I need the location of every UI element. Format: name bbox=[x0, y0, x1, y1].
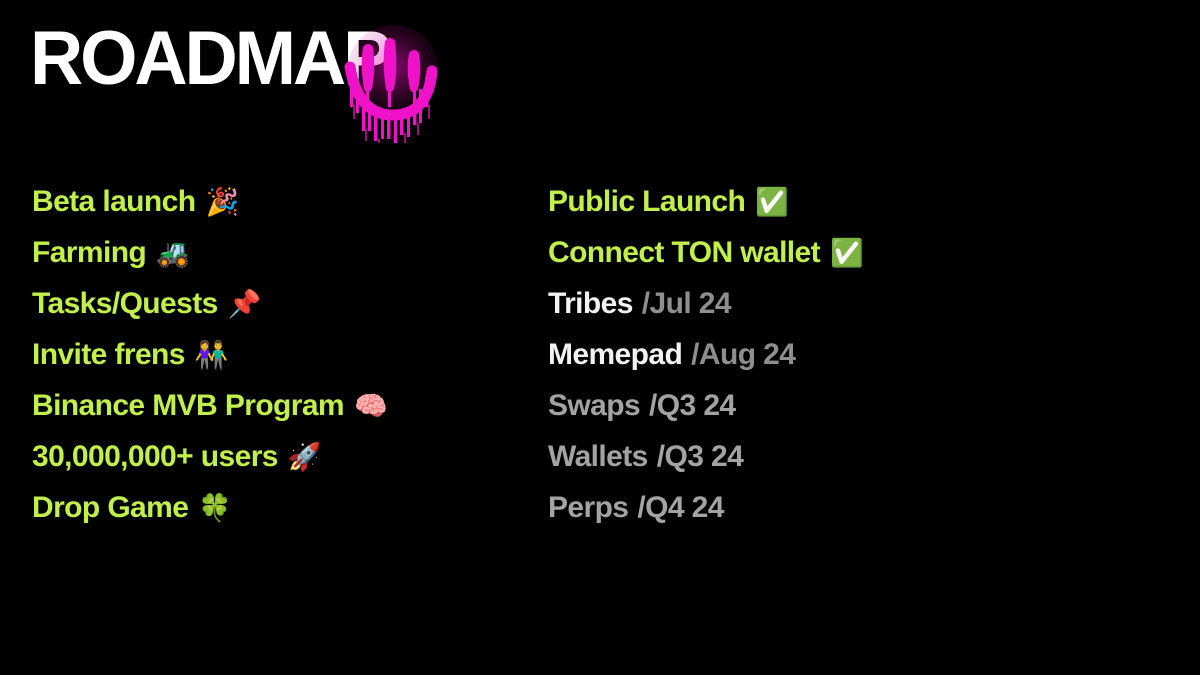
roadmap-item-label: Tribes bbox=[548, 278, 633, 329]
roadmap-item: Perps/Q4 24 bbox=[548, 482, 1108, 533]
couple-emoji: 👫 bbox=[195, 342, 228, 369]
roadmap-item-label: Farming bbox=[32, 227, 146, 278]
roadmap-item: Wallets/Q3 24 bbox=[548, 431, 1108, 482]
roadmap-item: Binance MVB Program🧠 bbox=[32, 380, 512, 431]
roadmap-item-date: /Jul 24 bbox=[642, 278, 731, 329]
roadmap-column-left: Beta launch🎉Farming🚜Tasks/Quests📌Invite … bbox=[32, 176, 512, 533]
roadmap-item: Farming🚜 bbox=[32, 227, 512, 278]
roadmap-item: Memepad/Aug 24 bbox=[548, 329, 1108, 380]
roadmap-item: Drop Game🍀 bbox=[32, 482, 512, 533]
roadmap-item: Tasks/Quests📌 bbox=[32, 278, 512, 329]
roadmap-item-date: /Q3 24 bbox=[657, 431, 743, 482]
party-popper-emoji: 🎉 bbox=[205, 189, 238, 216]
page-title: ROADMAP bbox=[30, 18, 389, 100]
roadmap-item: Tribes/Jul 24 bbox=[548, 278, 1108, 329]
roadmap-item: Swaps/Q3 24 bbox=[548, 380, 1108, 431]
check-mark-button-emoji: ✅ bbox=[830, 240, 863, 267]
roadmap-item-label: 30,000,000+ users bbox=[32, 431, 278, 482]
roadmap-item-date: /Aug 24 bbox=[691, 329, 795, 380]
roadmap-item-label: Memepad bbox=[548, 329, 682, 380]
roadmap-column-right: Public Launch✅Connect TON wallet✅Tribes/… bbox=[548, 176, 1108, 533]
pushpin-emoji: 📌 bbox=[228, 291, 261, 318]
roadmap-item-label: Drop Game bbox=[32, 482, 188, 533]
check-mark-button-emoji: ✅ bbox=[755, 189, 788, 216]
roadmap-item-label: Beta launch bbox=[32, 176, 195, 227]
four-leaf-clover-emoji: 🍀 bbox=[198, 495, 231, 522]
brain-emoji: 🧠 bbox=[354, 393, 387, 420]
roadmap-item-label: Invite frens bbox=[32, 329, 185, 380]
roadmap-item-date: /Q4 24 bbox=[637, 482, 723, 533]
roadmap-slide: ROADMAP bbox=[0, 0, 1200, 675]
roadmap-item-label: Tasks/Quests bbox=[32, 278, 218, 329]
rocket-emoji: 🚀 bbox=[288, 444, 321, 471]
roadmap-item-label: Wallets bbox=[548, 431, 648, 482]
roadmap-item-label: Swaps bbox=[548, 380, 640, 431]
roadmap-item-label: Connect TON wallet bbox=[548, 227, 820, 278]
tractor-emoji: 🚜 bbox=[156, 240, 189, 267]
roadmap-item: Connect TON wallet✅ bbox=[548, 227, 1108, 278]
roadmap-item: 30,000,000+ users🚀 bbox=[32, 431, 512, 482]
roadmap-item: Invite frens👫 bbox=[32, 329, 512, 380]
roadmap-item-label: Public Launch bbox=[548, 176, 745, 227]
title-block: ROADMAP bbox=[30, 18, 400, 110]
roadmap-item-label: Binance MVB Program bbox=[32, 380, 344, 431]
roadmap-item-label: Perps bbox=[548, 482, 628, 533]
roadmap-item: Beta launch🎉 bbox=[32, 176, 512, 227]
roadmap-item-date: /Q3 24 bbox=[649, 380, 735, 431]
roadmap-item: Public Launch✅ bbox=[548, 176, 1108, 227]
